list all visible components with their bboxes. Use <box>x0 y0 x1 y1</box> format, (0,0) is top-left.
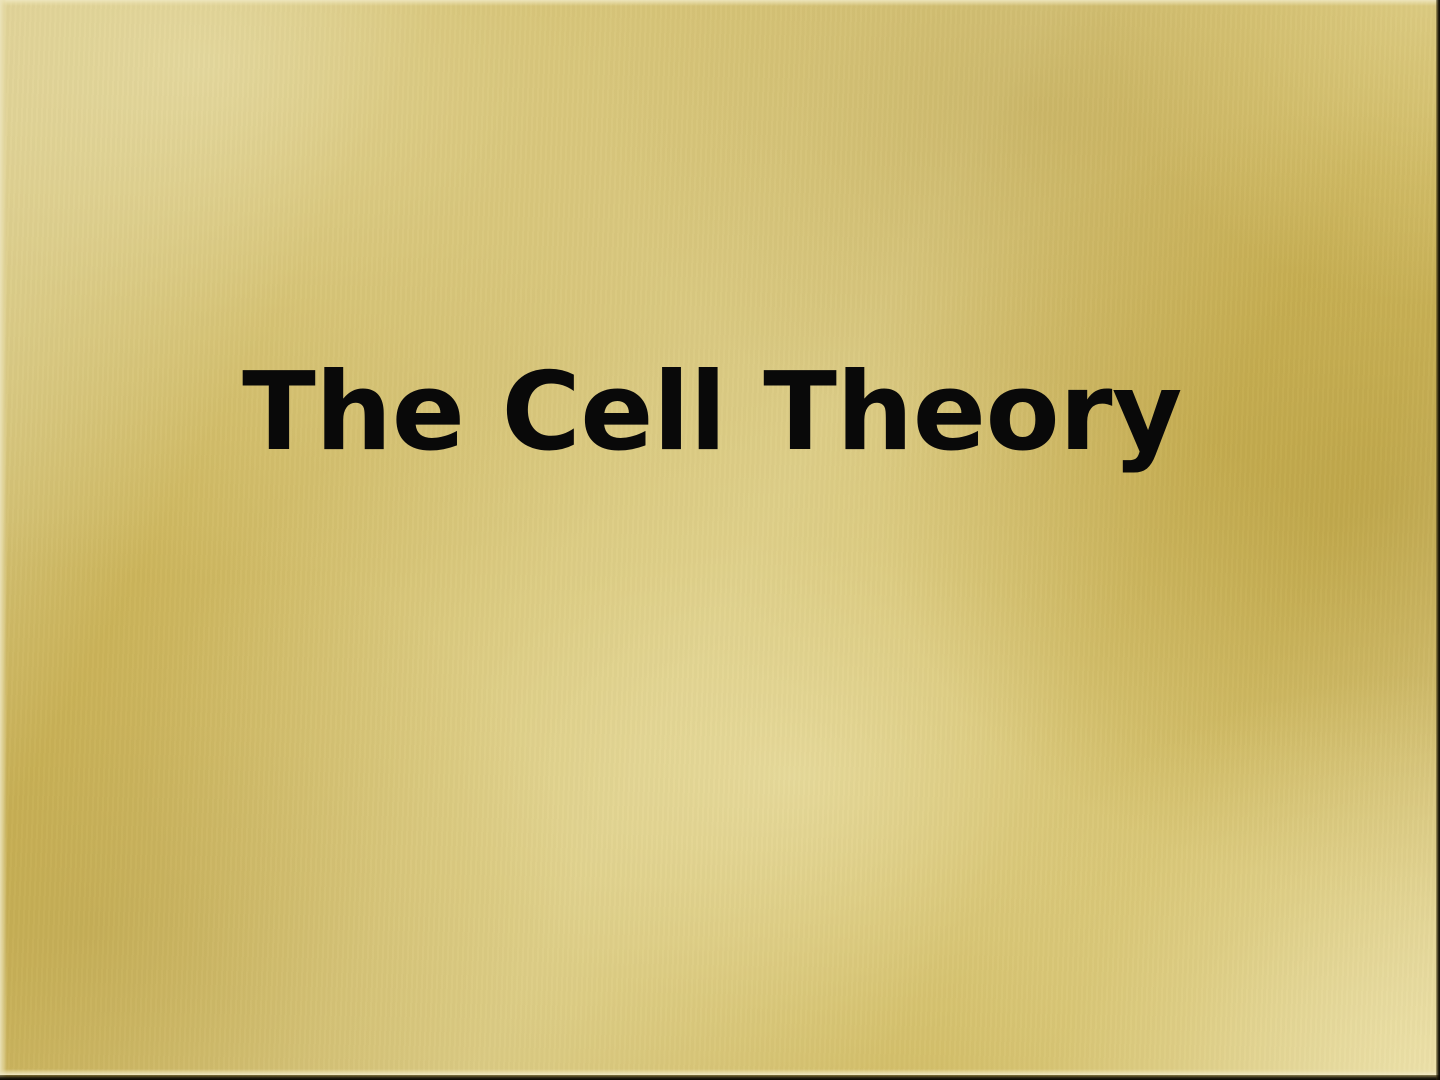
slide-edge-bottom-dark <box>0 1075 1440 1080</box>
slide-canvas: The Cell Theory <box>0 0 1440 1080</box>
slide-edge-top <box>0 0 1440 6</box>
background-highlight-top-left <box>0 0 1440 1080</box>
background-highlight-center <box>0 0 1440 1080</box>
background-shadow-top-right <box>0 0 1440 1080</box>
slide-edge-right-dark <box>1436 0 1440 1080</box>
background-shadow-right <box>0 0 1440 1080</box>
background-glow-top-right <box>0 0 1440 1080</box>
background-glow-bottom-right <box>0 0 1440 1080</box>
background-brushed-texture <box>0 0 1440 1080</box>
title-placeholder: The Cell Theory <box>0 318 1440 508</box>
slide-edge-left <box>0 0 7 1080</box>
background-shadow-bottom-left <box>0 0 1440 1080</box>
slide-title: The Cell Theory <box>242 356 1182 469</box>
background-base-gradient <box>0 0 1440 1080</box>
